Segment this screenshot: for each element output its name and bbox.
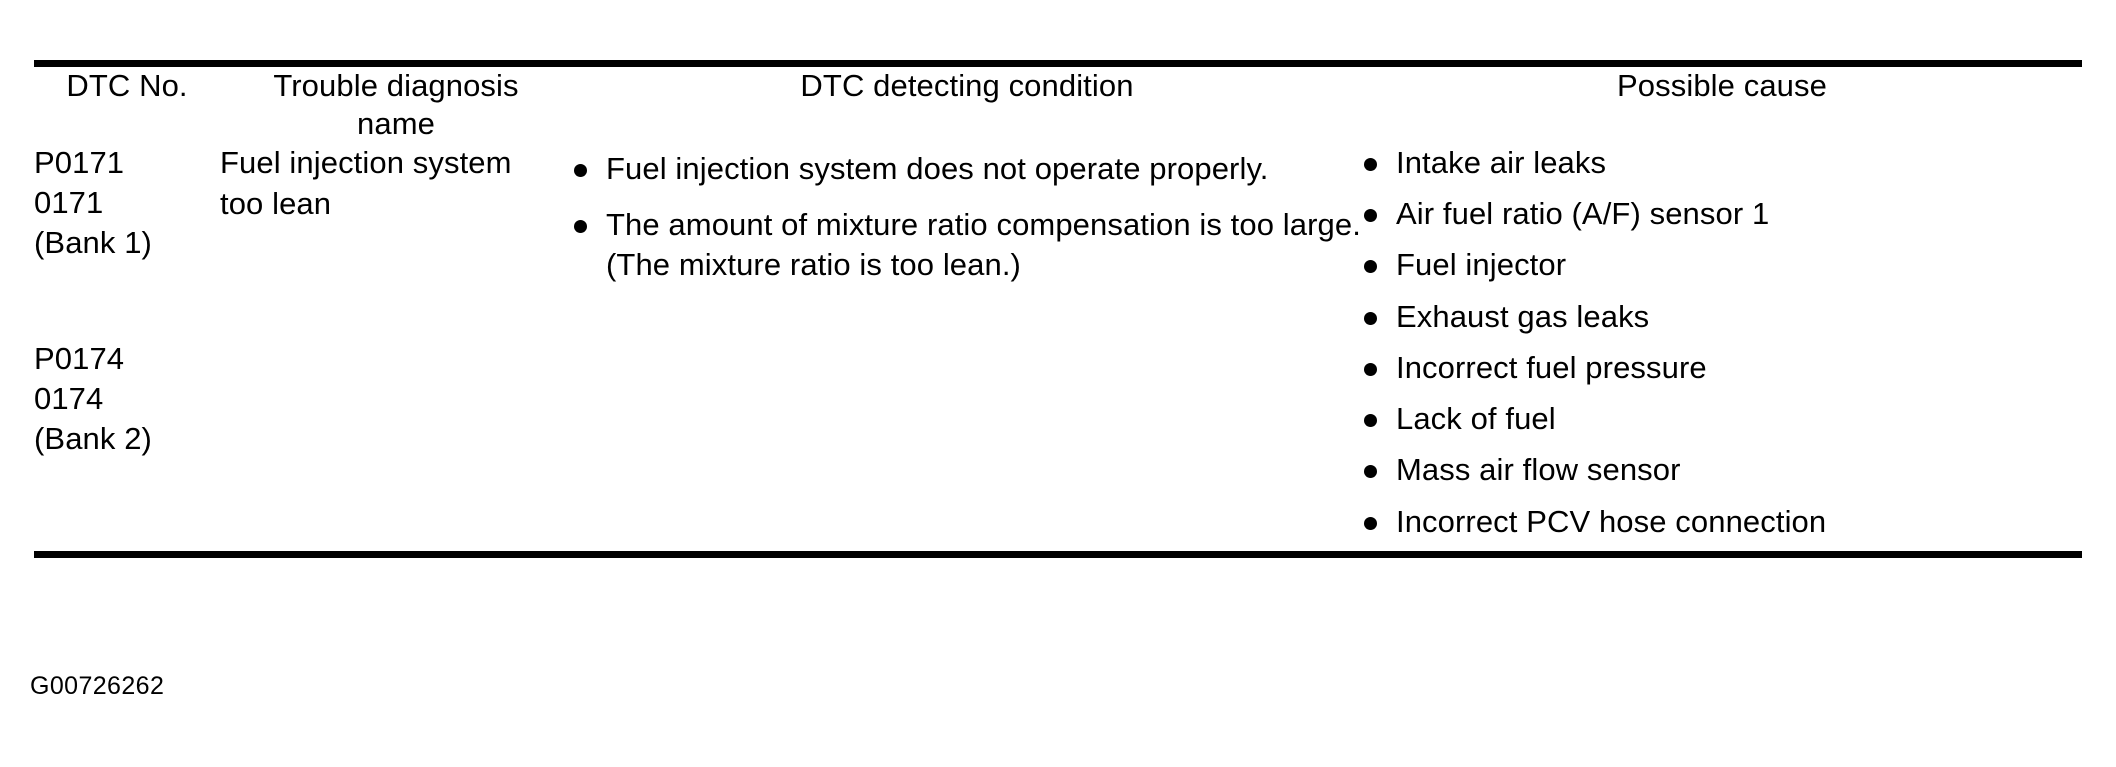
list-item: The amount of mixture ratio compensation… — [572, 205, 1362, 286]
possible-cause-7: Mass air flow sensor — [1396, 452, 1681, 487]
dtc-table-block: DTC No. Trouble diagnosis name DTC detec… — [34, 60, 2082, 558]
table-bottom-rule — [34, 551, 2082, 558]
cell-dtc-no-bank1: P0171 0171 (Bank 1) — [34, 143, 220, 273]
bullet-icon — [574, 220, 587, 233]
possible-cause-5: Incorrect fuel pressure — [1396, 350, 1707, 385]
possible-cause-list: Intake air leaks Air fuel ratio (A/F) se… — [1362, 143, 2082, 542]
possible-cause-2: Air fuel ratio (A/F) sensor 1 — [1396, 196, 1769, 231]
bullet-icon — [1364, 312, 1377, 325]
bullet-icon — [1364, 260, 1377, 273]
possible-cause-3: Fuel injector — [1396, 247, 1566, 282]
cell-trouble-diagnosis-name: Fuel injection system too lean — [220, 143, 572, 551]
list-item: Exhaust gas leaks — [1362, 297, 2082, 337]
bullet-icon — [574, 164, 587, 177]
trouble-diagnosis-name-text: Fuel injection system too lean — [220, 143, 530, 225]
figure-id: G00726262 — [30, 672, 164, 701]
column-header-trouble-diagnosis-name-line1: Trouble diagnosis — [273, 68, 518, 103]
column-header-possible-cause: Possible cause — [1362, 67, 2082, 143]
detecting-condition-2: The amount of mixture ratio compensation… — [606, 207, 1361, 282]
list-item: Incorrect fuel pressure — [1362, 348, 2082, 388]
possible-cause-1: Intake air leaks — [1396, 145, 1606, 180]
dtc-code-p0171: P0171 — [34, 143, 220, 183]
bullet-icon — [1364, 465, 1377, 478]
dtc-code-short-0174: 0174 — [34, 379, 220, 419]
dtc-table: DTC No. Trouble diagnosis name DTC detec… — [34, 67, 2082, 551]
dtc-bank-1: (Bank 1) — [34, 223, 220, 263]
detecting-condition-list: Fuel injection system does not operate p… — [572, 149, 1362, 286]
table-row: P0171 0171 (Bank 1) Fuel injection syste… — [34, 143, 2082, 273]
detecting-condition-list-wrap: Fuel injection system does not operate p… — [572, 143, 1362, 292]
detecting-condition-1: Fuel injection system does not operate p… — [606, 151, 1268, 186]
bullet-icon — [1364, 363, 1377, 376]
document-page: DTC No. Trouble diagnosis name DTC detec… — [0, 0, 2116, 767]
column-header-dtc-no: DTC No. — [34, 67, 220, 143]
list-item: Lack of fuel — [1362, 399, 2082, 439]
list-item: Intake air leaks — [1362, 143, 2082, 183]
table-header-row: DTC No. Trouble diagnosis name DTC detec… — [34, 67, 2082, 143]
bullet-icon — [1364, 517, 1377, 530]
list-item: Fuel injector — [1362, 245, 2082, 285]
dtc-code-p0174: P0174 — [34, 339, 220, 379]
list-item: Mass air flow sensor — [1362, 450, 2082, 490]
cell-dtc-detecting-condition: Fuel injection system does not operate p… — [572, 143, 1362, 551]
possible-cause-4: Exhaust gas leaks — [1396, 299, 1649, 334]
list-item: Incorrect PCV hose connection — [1362, 502, 2082, 542]
column-header-dtc-detecting-condition: DTC detecting condition — [572, 67, 1362, 143]
table-top-rule — [34, 60, 2082, 67]
bullet-icon — [1364, 414, 1377, 427]
list-item: Air fuel ratio (A/F) sensor 1 — [1362, 194, 2082, 234]
column-header-trouble-diagnosis-name-line2: name — [357, 106, 435, 141]
cell-dtc-no-bank2: P0174 0174 (Bank 2) — [34, 273, 220, 551]
dtc-bank-2: (Bank 2) — [34, 419, 220, 459]
column-header-trouble-diagnosis-name: Trouble diagnosis name — [220, 67, 572, 143]
bullet-icon — [1364, 209, 1377, 222]
possible-cause-6: Lack of fuel — [1396, 401, 1556, 436]
possible-cause-8: Incorrect PCV hose connection — [1396, 504, 1826, 539]
list-item: Fuel injection system does not operate p… — [572, 149, 1362, 189]
cell-possible-cause: Intake air leaks Air fuel ratio (A/F) se… — [1362, 143, 2082, 551]
dtc-code-short-0171: 0171 — [34, 183, 220, 223]
bullet-icon — [1364, 158, 1377, 171]
